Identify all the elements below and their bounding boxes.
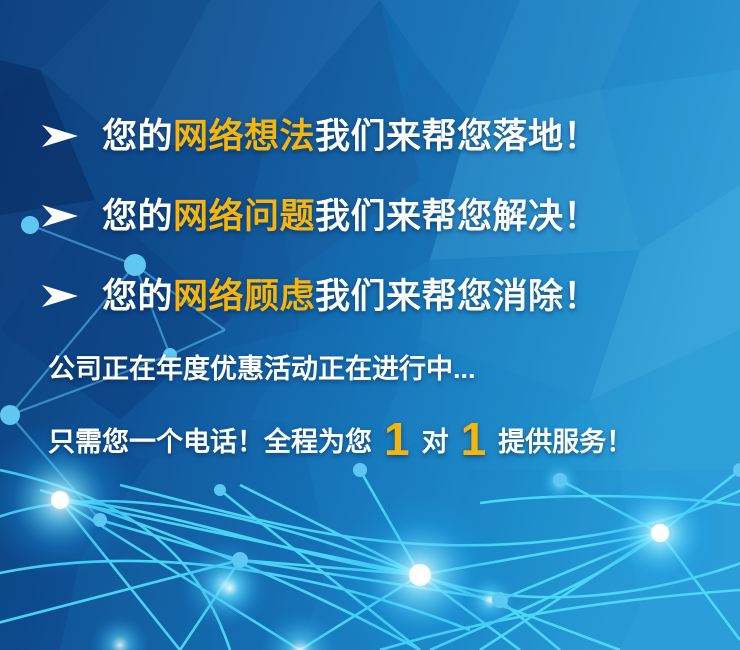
promo-line2-part1: 只需您一个电话！全程为您: [48, 427, 372, 457]
bullet-prefix-2: 您的: [102, 197, 173, 236]
bullet-highlight-1: 网络想法: [173, 117, 315, 156]
bullet-highlight-2: 网络问题: [173, 197, 315, 236]
bullet-suffix-2: 我们来帮您解决！: [315, 197, 599, 236]
promo-banner: 您的网络想法我们来帮您落地！ 您的网络问题我们来帮您解决！ 您的网络顾虑我们来帮…: [0, 0, 740, 650]
bullet-text-1: 您的网络想法我们来帮您落地！: [102, 119, 599, 154]
promo-line2-part3: 提供服务！: [498, 427, 633, 457]
bullet-prefix-3: 您的: [102, 277, 173, 316]
promo-number-2: 1: [458, 413, 490, 465]
promo-line-2: 只需您一个电话！全程为您1对1提供服务！: [48, 429, 728, 456]
bullet-item-1: 您的网络想法我们来帮您落地！: [0, 96, 740, 176]
bullet-list: 您的网络想法我们来帮您落地！ 您的网络问题我们来帮您解决！ 您的网络顾虑我们来帮…: [0, 96, 740, 336]
promo-block: 公司正在年度优惠活动正在进行中... 只需您一个电话！全程为您1对1提供服务！: [48, 356, 728, 456]
bullet-text-3: 您的网络顾虑我们来帮您消除！: [102, 279, 599, 314]
arrow-right-icon: [40, 122, 80, 150]
promo-line-1: 公司正在年度优惠活动正在进行中...: [48, 356, 728, 383]
bullet-suffix-1: 我们来帮您落地！: [315, 117, 599, 156]
bullet-prefix-1: 您的: [102, 117, 173, 156]
banner-content: 您的网络想法我们来帮您落地！ 您的网络问题我们来帮您解决！ 您的网络顾虑我们来帮…: [0, 0, 740, 650]
bullet-suffix-3: 我们来帮您消除！: [315, 277, 599, 316]
arrow-right-icon: [40, 282, 80, 310]
promo-line2-part2: 对: [422, 427, 449, 457]
arrow-right-icon: [40, 202, 80, 230]
bullet-item-2: 您的网络问题我们来帮您解决！: [0, 176, 740, 256]
bullet-item-3: 您的网络顾虑我们来帮您消除！: [0, 256, 740, 336]
bullet-text-2: 您的网络问题我们来帮您解决！: [102, 199, 599, 234]
promo-number-1: 1: [381, 413, 413, 465]
bullet-highlight-3: 网络顾虑: [173, 277, 315, 316]
